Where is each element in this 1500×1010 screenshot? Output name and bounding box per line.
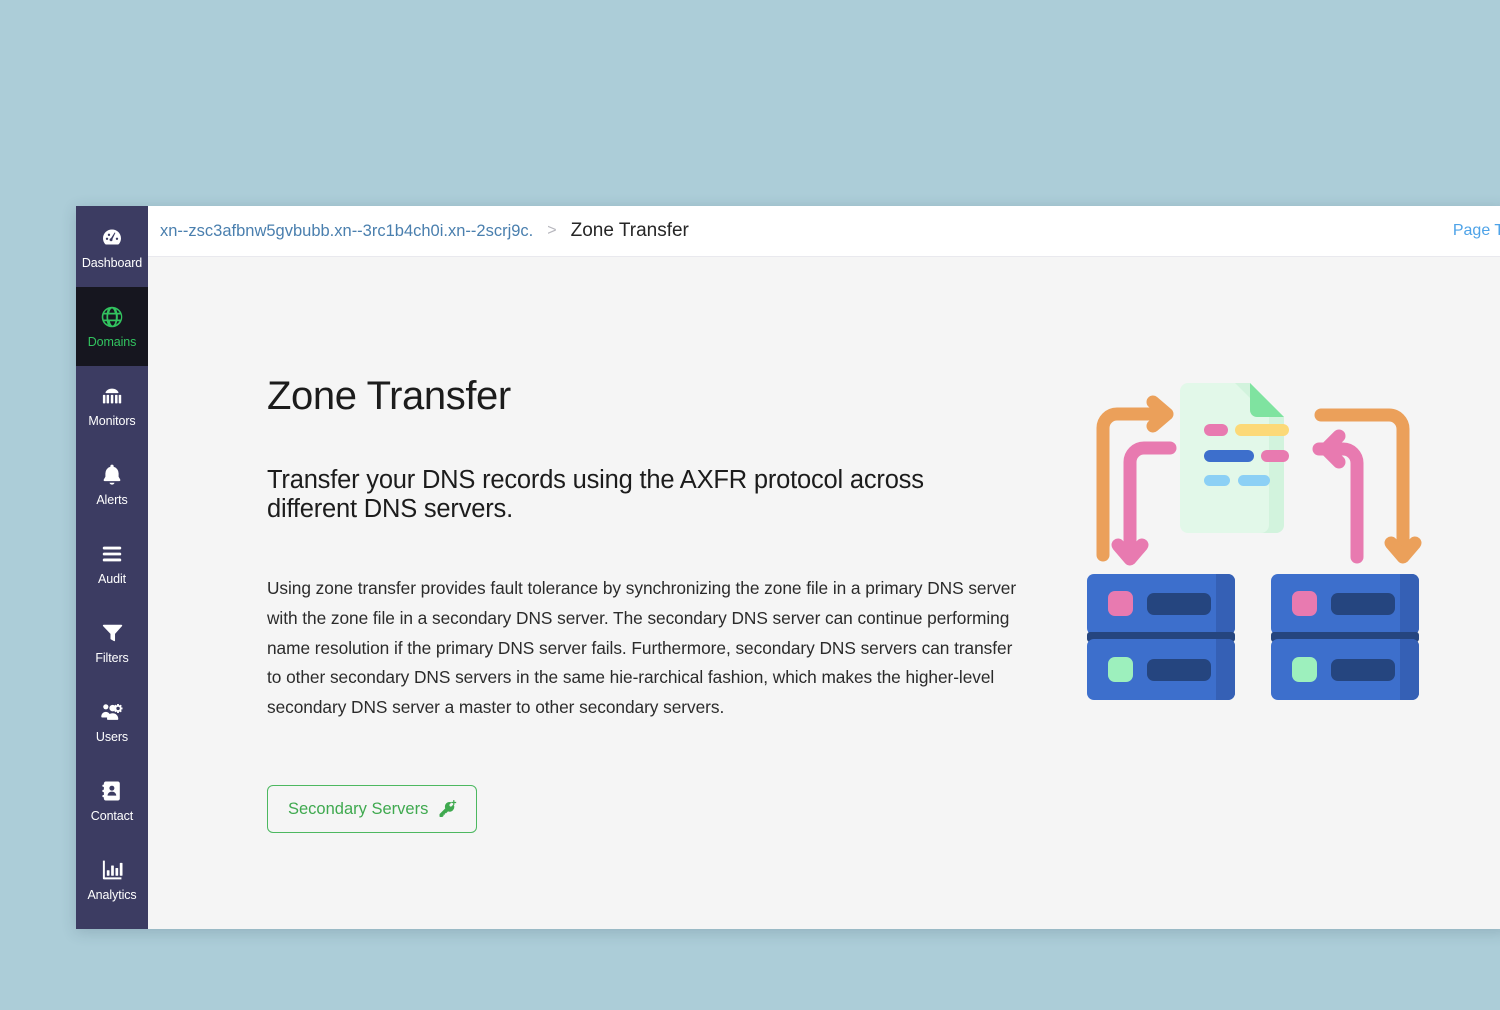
- arrow-pink-left: [1319, 436, 1357, 557]
- sidebar-item-alerts[interactable]: Alerts: [76, 445, 148, 524]
- breadcrumb-parent-link[interactable]: xn--zsc3afbnw5gvbubb.xn--3rc1b4ch0i.xn--…: [160, 222, 533, 241]
- sidebar-item-domains[interactable]: Domains: [76, 287, 148, 366]
- sidebar-item-label: Users: [96, 731, 128, 744]
- content-area: Zone Transfer Transfer your DNS records …: [148, 257, 1500, 929]
- sidebar-item-analytics[interactable]: Analytics: [76, 840, 148, 919]
- topbar: xn--zsc3afbnw5gvbubb.xn--3rc1b4ch0i.xn--…: [148, 206, 1500, 257]
- document-icon: [1180, 383, 1289, 533]
- sidebar-item-label: Filters: [95, 652, 128, 665]
- illustration-wrap: [1057, 375, 1500, 929]
- sidebar-item-filters[interactable]: Filters: [76, 603, 148, 682]
- sidebar-item-label: Monitors: [88, 415, 135, 428]
- server-rack-right: [1271, 574, 1419, 700]
- breadcrumb-separator-icon: >: [547, 222, 556, 240]
- sidebar-item-dashboard[interactable]: Dashboard: [76, 208, 148, 287]
- page-tip-link[interactable]: Page Tip: [1453, 222, 1500, 240]
- secondary-servers-button-label: Secondary Servers: [288, 801, 428, 818]
- secondary-servers-button[interactable]: Secondary Servers: [267, 785, 477, 833]
- breadcrumb-current: Zone Transfer: [571, 220, 689, 242]
- button-row: Secondary Servers: [267, 785, 1057, 833]
- page-title: Zone Transfer: [267, 375, 1057, 417]
- breadcrumb: xn--zsc3afbnw5gvbubb.xn--3rc1b4ch0i.xn--…: [160, 220, 689, 242]
- globe-icon: [99, 304, 125, 330]
- sidebar-item-contact[interactable]: Contact: [76, 761, 148, 840]
- key-plus-icon: [437, 799, 457, 819]
- sidebar-item-label: Domains: [88, 336, 137, 349]
- sidebar-item-label: Dashboard: [82, 257, 142, 270]
- arrow-pink-down: [1118, 448, 1170, 559]
- sidebar-item-label: Analytics: [87, 889, 136, 902]
- bar-chart-icon: [99, 857, 125, 883]
- server-rack-left: [1087, 574, 1235, 700]
- list-icon: [99, 541, 125, 567]
- sidebar-item-label: Audit: [98, 573, 126, 586]
- bell-icon: [99, 462, 125, 488]
- page-body-text: Using zone transfer provides fault toler…: [267, 574, 1027, 723]
- page-subtitle: Transfer your DNS records using the AXFR…: [267, 466, 927, 524]
- sidebar-item-label: Contact: [91, 810, 133, 823]
- users-gear-icon: [99, 699, 125, 725]
- server-rack-icon: [99, 383, 125, 409]
- zone-transfer-illustration: [1077, 377, 1429, 729]
- app-window: Dashboard Domains Monitors: [76, 206, 1500, 929]
- text-block: Zone Transfer Transfer your DNS records …: [267, 375, 1057, 929]
- main-column: xn--zsc3afbnw5gvbubb.xn--3rc1b4ch0i.xn--…: [148, 206, 1500, 929]
- sidebar-item-label: Alerts: [96, 494, 127, 507]
- sidebar-item-audit[interactable]: Audit: [76, 524, 148, 603]
- sidebar-item-monitors[interactable]: Monitors: [76, 366, 148, 445]
- funnel-icon: [99, 620, 125, 646]
- address-book-icon: [99, 778, 125, 804]
- sidebar-item-users[interactable]: Users: [76, 682, 148, 761]
- sidebar: Dashboard Domains Monitors: [76, 206, 148, 929]
- gauge-icon: [99, 225, 125, 251]
